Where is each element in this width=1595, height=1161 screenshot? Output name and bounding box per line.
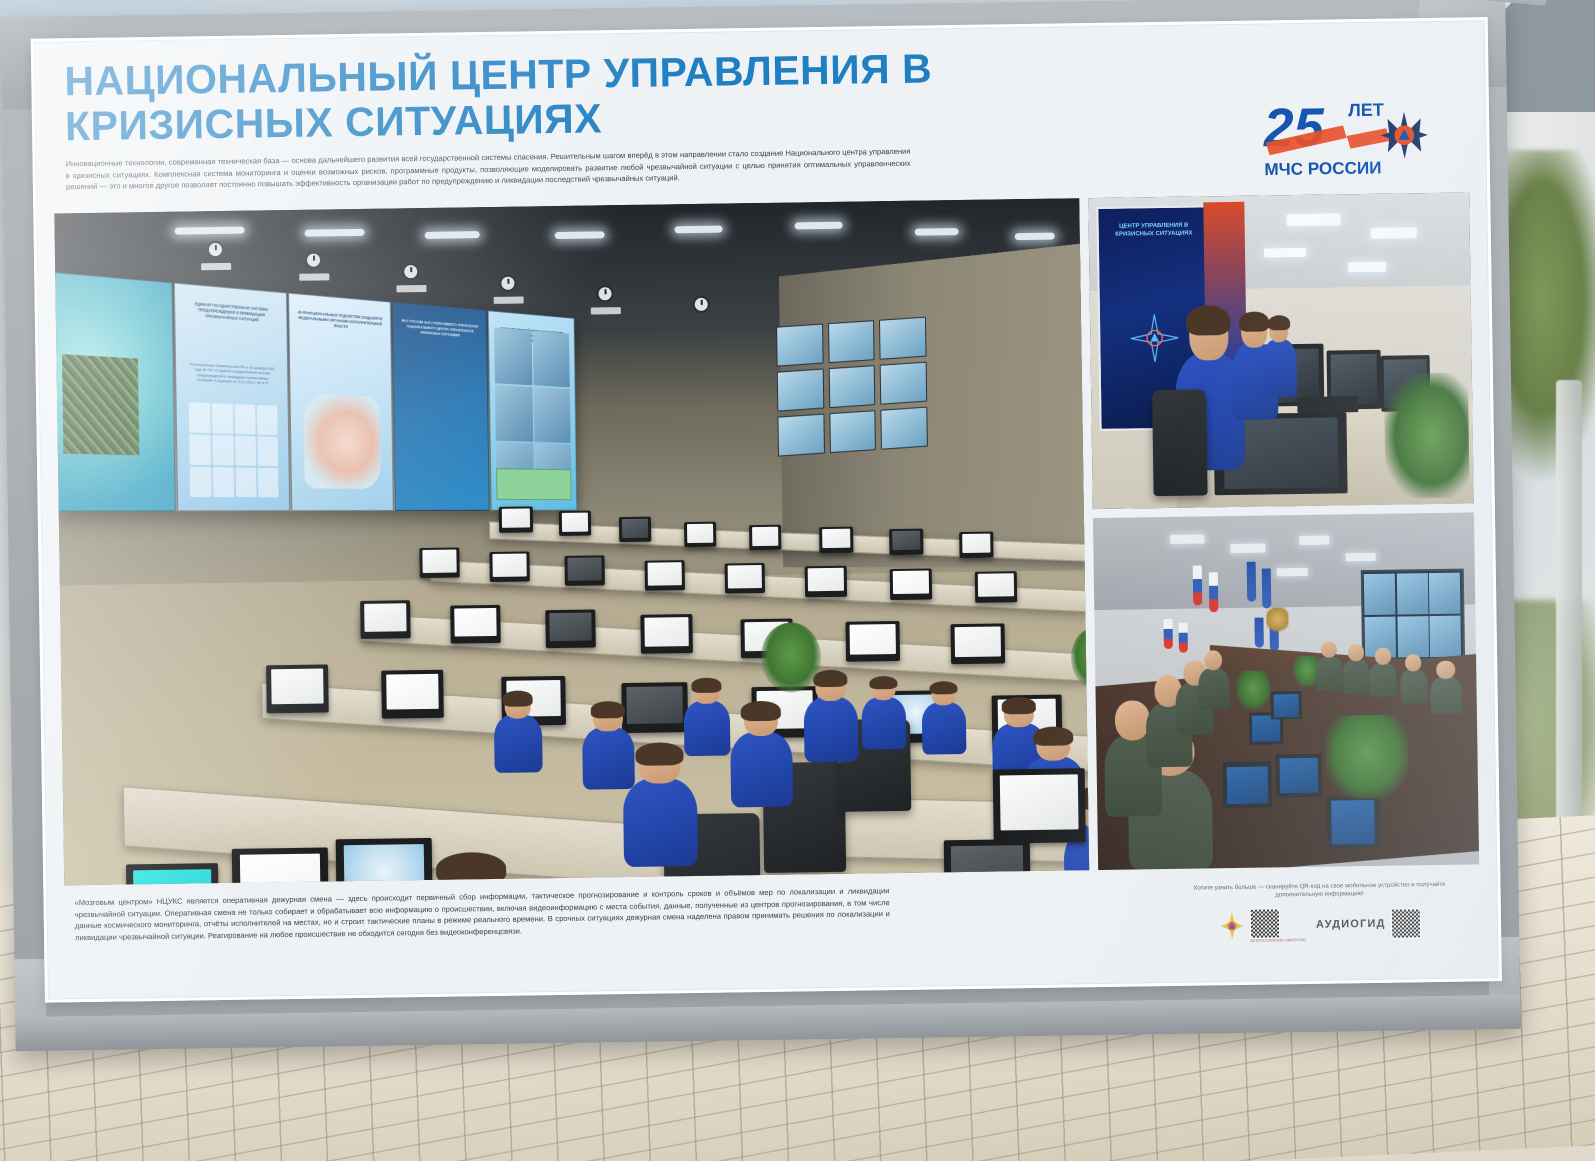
intro-paragraph: Инновационные технологии, современная те… [66,146,911,193]
video-wall-panel-left-text: 45 ФУНКЦИОНАЛЬНЫХ ПОДСИСТЕМ СОЗДАЮТСЯ ФЕ… [296,309,385,332]
board-frame: НАЦИОНАЛЬНЫЙ ЦЕНТР УПРАВЛЕНИЯ В КРИЗИСНЫ… [0,0,1520,1051]
board-footer: «Мозговым центром» НЦУКС является операт… [64,876,1480,960]
page-title: НАЦИОНАЛЬНЫЙ ЦЕНТР УПРАВЛЕНИЯ В КРИЗИСНЫ… [64,46,945,149]
operator-foreground [416,855,529,886]
wall-banner-text: ЦЕНТР УПРАВЛЕНИЯ В КРИЗИСНЫХ СИТУАЦИЯХ [1105,221,1202,238]
video-wall-panel-5: СХЕМА ВЗАИМОДЕЙСТВИЯ СИЛ И СРЕДСТВ ФУНКЦ… [488,310,577,510]
outdoor-scene: НАЦИОНАЛЬНЫЙ ЦЕНТР УПРАВЛЕНИЯ В КРИЗИСНЫ… [0,0,1595,1161]
mchs-star-icon [1128,305,1180,372]
information-board: НАЦИОНАЛЬНЫЙ ЦЕНТР УПРАВЛЕНИЯ В КРИЗИСНЫ… [31,17,1502,1003]
qr-mini-label: ВСЕРОССИЙСКОЕ ОБЩЕСТВО [1251,938,1307,943]
qr-cell-audioguide[interactable]: АУДИОГИД [1316,908,1421,940]
photo-grid: ЕДИНАЯ ГОСУДАРСТВЕННАЯ СИСТЕМА ПРЕДУПРЕЖ… [54,192,1479,885]
monitor-left [126,863,219,885]
qr-code-audioguide[interactable] [1390,908,1420,938]
monitor-center [232,847,329,885]
state-emblem-icon [1266,607,1288,633]
mchs-logo-icon [1219,911,1245,941]
photo-control-room: ЕДИНАЯ ГОСУДАРСТВЕННАЯ СИСТЕМА ПРЕДУПРЕЖ… [54,198,1089,885]
background-pole [1556,380,1582,880]
video-wall-panel-2: ЕДИНАЯ ГОСУДАРСТВЕННАЯ СИСТЕМА ПРЕДУПРЕЖ… [174,283,290,512]
qr-cell-mchs[interactable]: ВСЕРОССИЙСКОЕ ОБЩЕСТВО [1219,908,1306,943]
audioguide-label: АУДИОГИД [1316,918,1386,931]
svg-text:ЛЕТ: ЛЕТ [1348,100,1384,121]
logo-org-text: МЧС РОССИИ [1264,158,1381,179]
anniversary-logo: 25 ЛЕТ МЧС РОССИИ [1260,87,1441,182]
qr-section: Хотите узнать больше — сканируйте QR-код… [1169,877,1470,944]
video-wall-panel-1 [54,272,176,512]
qr-note-text: Хотите узнать больше — сканируйте QR-код… [1169,881,1469,902]
video-wall-heading: ЕДИНАЯ ГОСУДАРСТВЕННАЯ СИСТЕМА ПРЕДУПРЕЖ… [182,300,280,324]
photo-caption: «Мозговым центром» НЦУКС является операт… [74,885,890,943]
video-wall-subheading: Постановление Правительства РФ от 30 дек… [188,361,277,386]
video-wall-panel-4: МЧС РОССИИ ЗАЛ ОПЕРАТИВНОГО УПРАВЛЕНИЯ Н… [392,302,489,511]
photo-conference-hall [1093,512,1479,870]
monitor-wall [776,317,928,457]
photo-duty-station: ЦЕНТР УПРАВЛЕНИЯ В КРИЗИСНЫХ СИТУАЦИЯХ [1089,192,1474,509]
qr-code-mchs[interactable] [1250,908,1280,938]
video-wall-panel-3: 45 ФУНКЦИОНАЛЬНЫХ ПОДСИСТЕМ СОЗДАЮТСЯ ФЕ… [288,293,394,511]
video-wall-mchs-text: МЧС РОССИИ ЗАЛ ОПЕРАТИВНОГО УПРАВЛЕНИЯ Н… [399,318,481,340]
photo-column-right: ЦЕНТР УПРАВЛЕНИЯ В КРИЗИСНЫХ СИТУАЦИЯХ [1089,192,1480,870]
board-header: НАЦИОНАЛЬНЫЙ ЦЕНТР УПРАВЛЕНИЯ В КРИЗИСНЫ… [52,38,1469,209]
